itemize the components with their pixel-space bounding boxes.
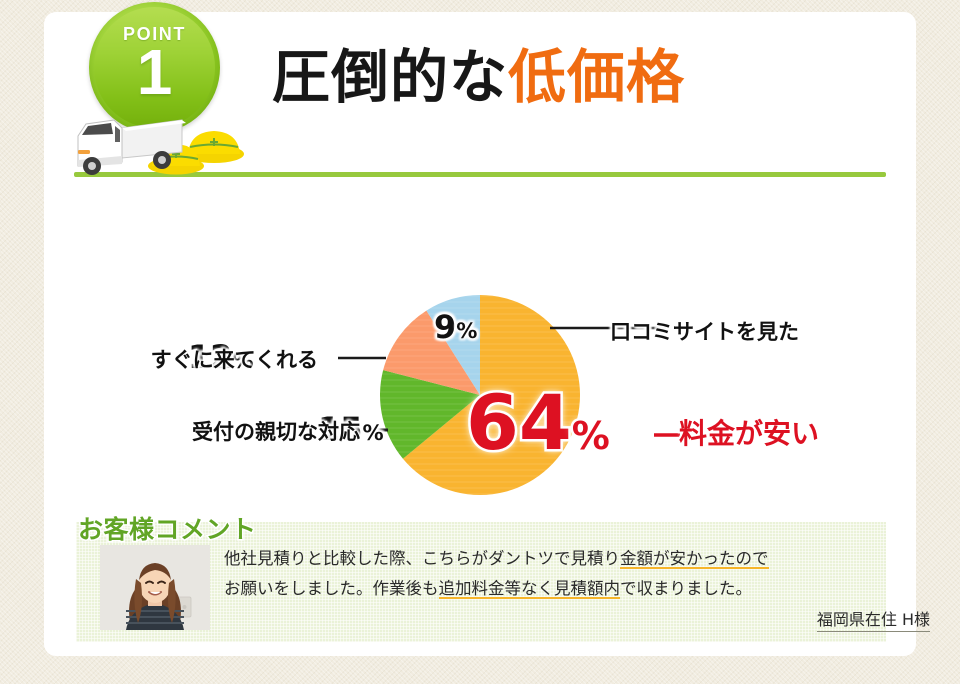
truck-illustration — [66, 104, 256, 180]
truck-and-helmets-svg — [66, 104, 256, 180]
page-title: 圧倒的な低価格 — [272, 48, 685, 106]
page-title-primary: 圧倒的な — [272, 43, 508, 111]
comment-line2-tail: で収まりました。 — [620, 579, 752, 598]
page-title-accent: 低価格 — [508, 43, 685, 111]
pie-category-highlight: 料金が安い — [679, 412, 819, 452]
customer-comment-text: 他社見積りと比較した際、こちらがダントツで見積り金額が安かったので お願いをしま… — [224, 544, 864, 604]
point-badge-number: 1 — [137, 43, 173, 102]
comment-line2-highlight: 追加料金等なく見積額内 — [439, 579, 621, 599]
comment-line2-plain: お願いをしました。作業後も — [224, 579, 439, 598]
pie-value-kuchikomi: 9% — [434, 308, 477, 346]
customer-photo-svg — [100, 545, 210, 630]
pie-value-highlight: 64% — [466, 385, 610, 461]
customer-comment-heading: お客様コメント — [78, 510, 257, 546]
pie-chart: 9% 口コミサイトを見た 12% すぐに来てくれる 15% 受付の親切な対応 6… — [70, 290, 870, 505]
comment-line1-highlight: 金額が安かったので — [620, 549, 769, 569]
comment-line1-plain: 他社見積りと比較した際、こちらがダントツで見積り — [224, 549, 620, 568]
customer-avatar — [100, 545, 210, 630]
pie-category-sugu: すぐに来てくれる — [151, 344, 318, 374]
pie-category-uketsuke: 受付の親切な対応 — [192, 416, 360, 446]
pie-category-kuchikomi: 口コミサイトを見た — [610, 316, 799, 346]
customer-comment-signature: 福岡県在住 H様 — [817, 606, 930, 632]
